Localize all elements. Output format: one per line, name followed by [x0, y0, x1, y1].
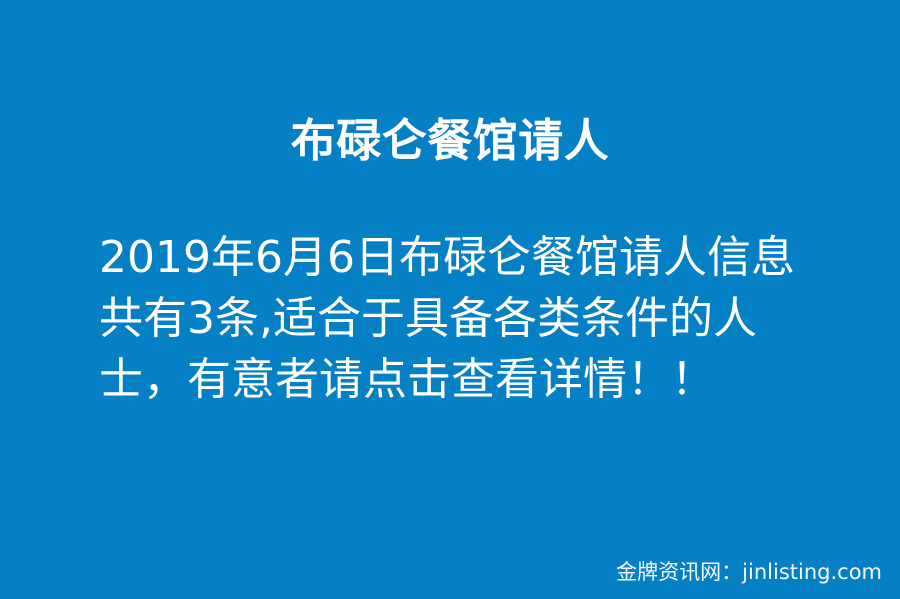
page-title: 布碌仑餐馆请人 [0, 114, 900, 168]
poster-body-text: 2019年6月6日布碌仑餐馆请人信息共有3条,适合于具备各类条件的人士，有意者请… [99, 227, 811, 410]
poster-canvas: 布碌仑餐馆请人 2019年6月6日布碌仑餐馆请人信息共有3条,适合于具备各类条件… [0, 0, 900, 599]
watermark: 金牌资讯网：jinlisting.com [616, 559, 882, 585]
